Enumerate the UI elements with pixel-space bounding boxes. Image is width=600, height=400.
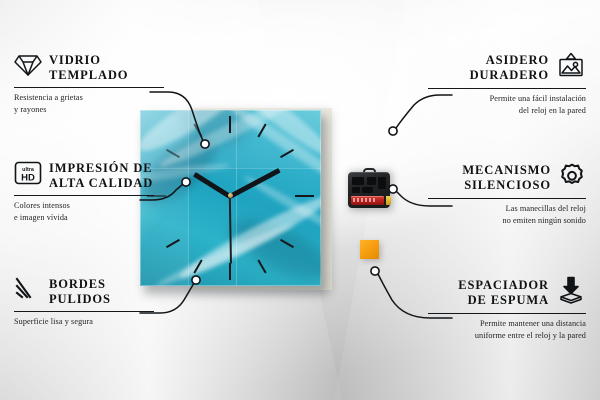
- svg-text:HD: HD: [21, 173, 35, 184]
- feature-asidero-duradero: ASIDERO DURADERO Permite una fácil insta…: [394, 52, 586, 116]
- feature-espaciador-de-espuma: ESPACIADOR DE ESPUMA Permite mantener un…: [394, 276, 586, 341]
- feature-description: Permite mantener una distancia uniforme …: [394, 318, 586, 341]
- feature-description: Permite una fácil instalación del reloj …: [394, 93, 586, 116]
- feature-mecanismo-silencioso: MECANISMO SILENCIOSO Las manecillas del …: [394, 162, 586, 226]
- connector-dot-vidrio: [201, 140, 209, 148]
- feature-rule: [14, 87, 164, 88]
- connector-dot-asidero: [389, 127, 397, 135]
- gear-icon: [558, 162, 586, 194]
- feature-rule: [14, 195, 154, 196]
- polished-edges-icon: [14, 276, 42, 307]
- feature-description: Resistencia a grietas y rayones: [14, 92, 206, 115]
- picture-frame-hook-icon: [556, 52, 586, 84]
- feature-description: Las manecillas del reloj no emiten ningú…: [394, 203, 586, 226]
- feature-title: BORDES PULIDOS: [49, 277, 111, 307]
- connector-dot-espaciador: [371, 267, 379, 275]
- feature-title: ASIDERO DURADERO: [470, 53, 549, 83]
- feature-rule: [14, 311, 154, 312]
- feature-bordes-pulidos: BORDES PULIDOS Superficie lisa y segura: [14, 276, 206, 328]
- feature-title: VIDRIO TEMPLADO: [49, 53, 128, 83]
- infographic-canvas: VIDRIO TEMPLADO Resistencia a grietas y …: [0, 0, 600, 400]
- feature-vidrio-templado: VIDRIO TEMPLADO Resistencia a grietas y …: [14, 52, 206, 115]
- feature-impresion-alta-calidad: ultra HD IMPRESIÓN DE ALTA CALIDAD Color…: [14, 160, 206, 223]
- down-arrow-pad-icon: [556, 276, 586, 309]
- ultra-hd-icon: ultra HD: [14, 160, 42, 191]
- feature-description: Superficie lisa y segura: [14, 316, 206, 328]
- feature-description: Colores intensos e imagen vívida: [14, 200, 206, 223]
- feature-title: MECANISMO SILENCIOSO: [462, 163, 551, 193]
- feature-rule: [428, 88, 586, 89]
- feature-title: ESPACIADOR DE ESPUMA: [458, 278, 549, 308]
- feature-title: IMPRESIÓN DE ALTA CALIDAD: [49, 161, 153, 191]
- feature-rule: [428, 313, 586, 314]
- diamond-icon: [14, 52, 42, 83]
- feature-rule: [428, 198, 586, 199]
